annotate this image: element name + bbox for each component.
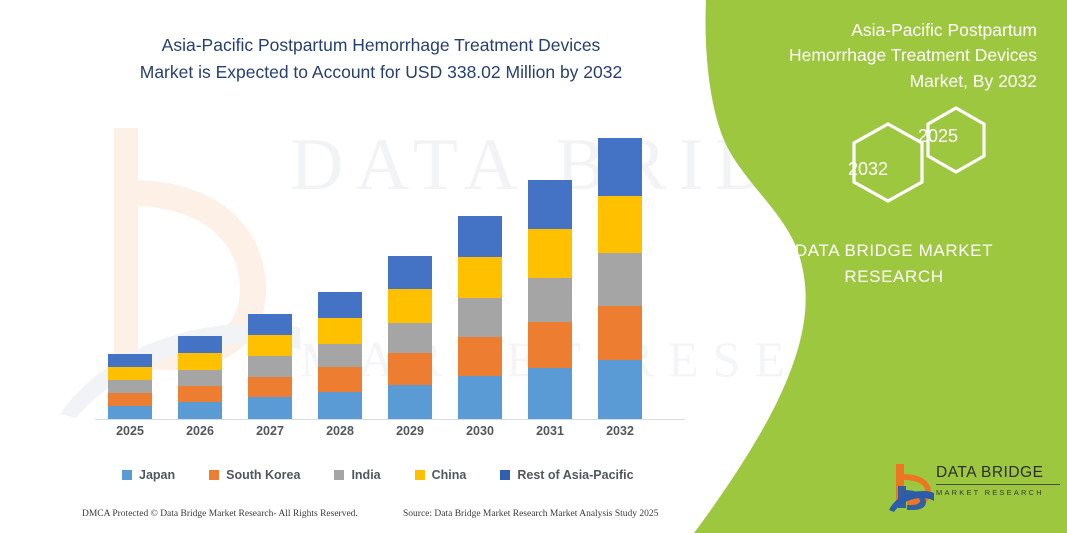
bar-segment-rest-of-asia-pacific-2026[interactable] (178, 336, 222, 353)
x-axis-label-2030: 2030 (450, 424, 510, 438)
bar-segment-rest-of-asia-pacific-2029[interactable] (388, 256, 432, 289)
bar-segment-rest-of-asia-pacific-2025[interactable] (108, 354, 152, 367)
bar-column-2031[interactable] (528, 180, 572, 419)
x-axis-label-2031: 2031 (520, 424, 580, 438)
bar-segment-japan-2026[interactable] (178, 402, 222, 419)
panel-brand-line-2: RESEARCH (769, 264, 1019, 290)
footer-copyright: DMCA Protected © Data Bridge Market Rese… (82, 509, 358, 519)
brand-logo-tagline: MARKET RESEARCH (936, 488, 1060, 497)
legend-swatch-icon (500, 470, 510, 480)
bar-segment-japan-2029[interactable] (388, 385, 432, 419)
bar-segment-india-2028[interactable] (318, 344, 362, 368)
bar-column-2029[interactable] (388, 256, 432, 419)
bar-segment-rest-of-asia-pacific-2028[interactable] (318, 292, 362, 318)
legend-label: Japan (139, 468, 175, 482)
bar-segment-south-korea-2031[interactable] (528, 322, 572, 368)
bar-segment-china-2029[interactable] (388, 289, 432, 322)
x-axis-label-2027: 2027 (240, 424, 300, 438)
footer-source: Source: Data Bridge Market Research Mark… (403, 509, 658, 519)
chart-legend: JapanSouth KoreaIndiaChinaRest of Asia-P… (122, 466, 668, 484)
bar-segment-india-2025[interactable] (108, 380, 152, 393)
bar-segment-india-2031[interactable] (528, 278, 572, 323)
bar-segment-rest-of-asia-pacific-2032[interactable] (598, 138, 642, 196)
legend-label: Rest of Asia-Pacific (517, 468, 633, 482)
bar-column-2032[interactable] (598, 138, 642, 419)
bar-segment-japan-2025[interactable] (108, 406, 152, 419)
bar-column-2026[interactable] (178, 336, 222, 419)
chart-title: Asia-Pacific Postpartum Hemorrhage Treat… (76, 32, 686, 86)
brand-logo-mark (888, 460, 934, 512)
x-axis-label-2032: 2032 (590, 424, 650, 438)
x-axis-line (95, 419, 685, 420)
legend-label: South Korea (226, 468, 300, 482)
bar-segment-rest-of-asia-pacific-2030[interactable] (458, 216, 502, 257)
bar-segment-japan-2027[interactable] (248, 397, 292, 419)
bar-column-2025[interactable] (108, 354, 152, 419)
hexagon-badges: 2032 2025 (826, 104, 1016, 204)
panel-heading-line-3: Market, By 2032 (777, 69, 1037, 94)
x-axis-label-2025: 2025 (100, 424, 160, 438)
brand-logo-name: DATA BRIDGE (936, 464, 1060, 485)
legend-item-rest-of-asia-pacific[interactable]: Rest of Asia-Pacific (500, 468, 633, 482)
bar-segment-china-2025[interactable] (108, 367, 152, 380)
bar-segment-south-korea-2025[interactable] (108, 393, 152, 406)
x-axis-label-2028: 2028 (310, 424, 370, 438)
hexagon-large-label: 2032 (848, 159, 888, 180)
chart-title-line-2: Market is Expected to Account for USD 33… (76, 59, 686, 86)
legend-label: India (351, 468, 380, 482)
legend-swatch-icon (415, 470, 425, 480)
bar-segment-india-2029[interactable] (388, 323, 432, 353)
bar-chart-plot-area (92, 100, 692, 420)
bar-segment-japan-2031[interactable] (528, 368, 572, 419)
bar-segment-china-2030[interactable] (458, 257, 502, 298)
bar-segment-india-2030[interactable] (458, 298, 502, 336)
bar-segment-south-korea-2029[interactable] (388, 353, 432, 384)
panel-brand-line-1: DATA BRIDGE MARKET (769, 238, 1019, 264)
x-axis-label-2029: 2029 (380, 424, 440, 438)
panel-brand-name: DATA BRIDGE MARKET RESEARCH (769, 238, 1019, 289)
panel-heading-line-2: Hemorrhage Treatment Devices (777, 43, 1037, 68)
bar-segment-china-2027[interactable] (248, 335, 292, 356)
hexagon-small-label: 2025 (918, 126, 958, 147)
x-axis-label-2026: 2026 (170, 424, 230, 438)
bar-column-2027[interactable] (248, 314, 292, 419)
legend-swatch-icon (122, 470, 132, 480)
brand-logo: DATA BRIDGE MARKET RESEARCH (888, 458, 1060, 514)
legend-item-japan[interactable]: Japan (122, 468, 175, 482)
panel-heading: Asia-Pacific Postpartum Hemorrhage Treat… (777, 18, 1037, 94)
bar-segment-rest-of-asia-pacific-2031[interactable] (528, 180, 572, 229)
bar-segment-china-2026[interactable] (178, 353, 222, 370)
bar-segment-china-2031[interactable] (528, 229, 572, 278)
bar-column-2028[interactable] (318, 292, 362, 419)
legend-item-china[interactable]: China (415, 468, 467, 482)
bar-segment-india-2032[interactable] (598, 253, 642, 305)
legend-swatch-icon (334, 470, 344, 480)
legend-label: China (432, 468, 467, 482)
legend-item-south-korea[interactable]: South Korea (209, 468, 300, 482)
bar-segment-south-korea-2027[interactable] (248, 377, 292, 397)
chart-title-line-1: Asia-Pacific Postpartum Hemorrhage Treat… (76, 32, 686, 59)
bar-segment-japan-2028[interactable] (318, 392, 362, 419)
bar-segment-south-korea-2026[interactable] (178, 386, 222, 402)
bar-segment-south-korea-2028[interactable] (318, 367, 362, 392)
bar-segment-china-2028[interactable] (318, 318, 362, 344)
infographic-canvas: DATA BRIDGE MARKET RESEARCH Asia-Pacific… (0, 0, 1067, 533)
bar-segment-india-2027[interactable] (248, 356, 292, 376)
bar-segment-japan-2030[interactable] (458, 376, 502, 419)
legend-item-india[interactable]: India (334, 468, 380, 482)
bar-segment-japan-2032[interactable] (598, 360, 642, 419)
bar-segment-south-korea-2032[interactable] (598, 306, 642, 360)
bar-segment-south-korea-2030[interactable] (458, 337, 502, 376)
bar-segment-rest-of-asia-pacific-2027[interactable] (248, 314, 292, 335)
hexagon-outlines (826, 104, 1016, 204)
bar-segment-india-2026[interactable] (178, 370, 222, 386)
bar-column-2030[interactable] (458, 216, 502, 419)
brand-logo-text: DATA BRIDGE MARKET RESEARCH (936, 464, 1060, 497)
legend-swatch-icon (209, 470, 219, 480)
x-axis-labels: 20252026202720282029203020312032 (92, 424, 692, 446)
panel-heading-line-1: Asia-Pacific Postpartum (777, 18, 1037, 43)
bar-segment-china-2032[interactable] (598, 196, 642, 254)
